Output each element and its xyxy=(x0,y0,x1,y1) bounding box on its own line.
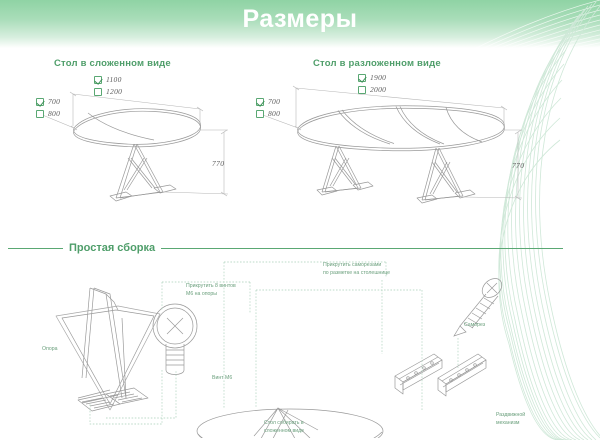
option-row[interactable]: 1900 xyxy=(358,72,386,83)
option-row[interactable]: 1100 xyxy=(94,74,122,85)
unfolded-width-options: 700 800 xyxy=(256,96,280,120)
support-leg-drawing xyxy=(56,288,160,411)
checkbox-unchecked-icon[interactable] xyxy=(358,86,366,94)
option-value: 2000 xyxy=(370,85,386,94)
divider-rule-right xyxy=(161,248,563,249)
option-value: 800 xyxy=(48,109,60,118)
checkbox-checked-icon[interactable] xyxy=(256,98,264,106)
unfolded-height-value: 770 xyxy=(512,161,524,170)
callout-screws-line2: по разметке на столешнице xyxy=(323,270,390,278)
callout-screws: Прикрутить саморезами по разметке на сто… xyxy=(323,262,390,277)
option-value: 700 xyxy=(48,97,60,106)
folded-height-value: 770 xyxy=(212,159,224,168)
part-label-slide-mechanism: Раздвижной механизм xyxy=(496,412,525,427)
option-row[interactable]: 800 xyxy=(256,108,280,119)
checkbox-checked-icon[interactable] xyxy=(36,98,44,106)
page-title: Размеры xyxy=(0,5,600,34)
callout-bolts-line2: М6 на опоры xyxy=(186,291,236,299)
option-row[interactable]: 2000 xyxy=(358,84,386,95)
option-row[interactable]: 700 xyxy=(36,96,60,107)
unfolded-length-options: 1900 2000 xyxy=(358,72,386,96)
option-row[interactable]: 800 xyxy=(36,108,60,119)
part-label-slide-line2: механизм xyxy=(496,420,525,428)
checkbox-unchecked-icon[interactable] xyxy=(256,110,264,118)
checkbox-unchecked-icon[interactable] xyxy=(94,88,102,96)
unfolded-table-drawing xyxy=(250,66,530,226)
checkbox-checked-icon[interactable] xyxy=(358,74,366,82)
option-value: 800 xyxy=(268,109,280,118)
part-label-slide-line1: Раздвижной xyxy=(496,412,525,420)
option-value: 700 xyxy=(268,97,280,106)
folded-width-options: 700 800 xyxy=(36,96,60,120)
part-label-screw: Саморез xyxy=(464,322,485,330)
slide-rail-drawing xyxy=(395,354,486,396)
assembly-diagram xyxy=(10,258,555,438)
option-value: 1200 xyxy=(106,87,122,96)
part-label-bolt: Винт М6 xyxy=(212,375,232,383)
folded-length-options: 1100 1200 xyxy=(94,74,122,98)
checkbox-checked-icon[interactable] xyxy=(94,76,102,84)
callout-bolts: Прикрутить 8 винтов М6 на опоры xyxy=(186,283,236,298)
part-label-support: Опора xyxy=(42,346,58,354)
callout-assemble-line1: Стол собирать в xyxy=(264,420,304,428)
option-value: 1900 xyxy=(370,73,386,82)
callout-screws-line1: Прикрутить саморезами xyxy=(323,262,390,270)
header-banner: Размеры xyxy=(0,0,600,48)
callout-assemble-folded: Стол собирать в сложенном виде xyxy=(264,420,304,435)
assembly-section-divider: Простая сборка xyxy=(8,240,563,256)
option-value: 1100 xyxy=(106,75,122,84)
folded-table-drawing xyxy=(28,66,256,226)
checkbox-unchecked-icon[interactable] xyxy=(36,110,44,118)
assembly-section-heading: Простая сборка xyxy=(69,242,155,254)
option-row[interactable]: 700 xyxy=(256,96,280,107)
infographic-page: Размеры Стол в сложенном виде Стол в раз… xyxy=(0,0,600,440)
callout-bolts-line1: Прикрутить 8 винтов xyxy=(186,283,236,291)
callout-assemble-line2: сложенном виде xyxy=(264,428,304,436)
option-row[interactable]: 1200 xyxy=(94,86,122,97)
divider-rule-left xyxy=(8,248,63,249)
